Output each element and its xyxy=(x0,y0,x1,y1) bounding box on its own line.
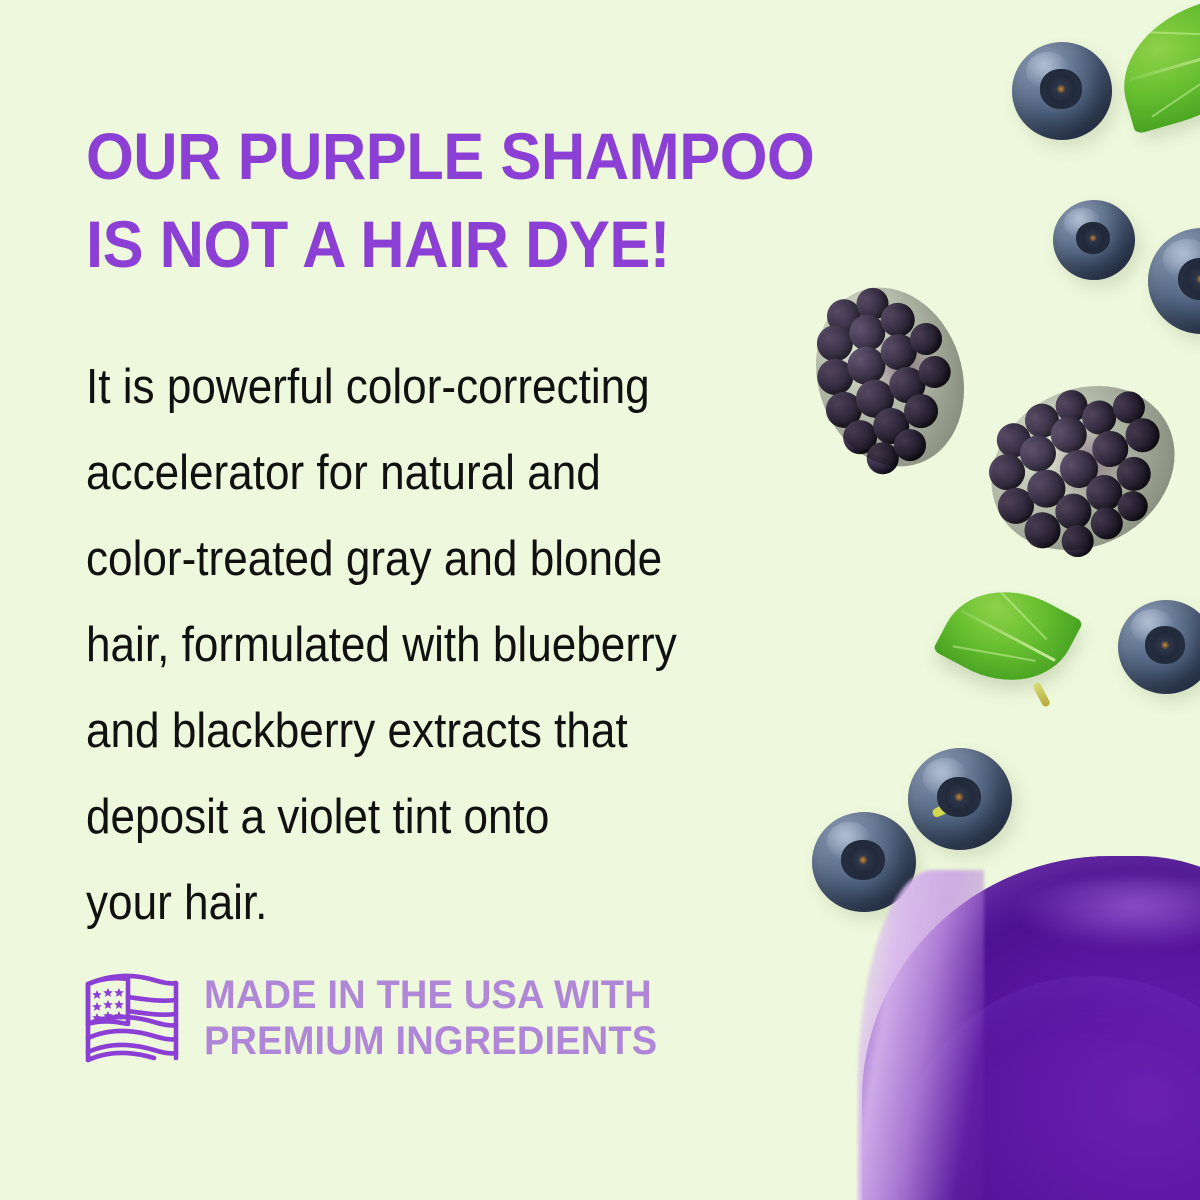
leaf-vein xyxy=(1129,42,1200,81)
mint-leaf-icon xyxy=(932,565,1083,706)
shampoo-highlight-rim xyxy=(858,870,984,1200)
body-paragraph: It is powerful color-correcting accelera… xyxy=(86,344,734,946)
blueberry-bloom xyxy=(923,758,969,797)
blueberry-icon xyxy=(1053,200,1135,280)
blackberry-sheen xyxy=(858,321,946,409)
blueberry-icon xyxy=(908,748,1012,850)
blueberry-stem xyxy=(931,796,966,818)
promo-canvas: OUR PURPLE SHAMPOO IS NOT A HAIR DYE! It… xyxy=(0,0,1200,1200)
blueberry-bloom xyxy=(1131,609,1173,645)
leaf-vein xyxy=(988,579,1048,641)
blueberry-bloom xyxy=(1064,208,1100,238)
leaf-vein xyxy=(1128,30,1200,36)
leaf-vein xyxy=(1151,57,1200,117)
leaf-vein xyxy=(961,610,1056,662)
blueberry-bloom xyxy=(827,822,873,860)
mint-leaf-blade xyxy=(932,565,1083,706)
blackberry-icon xyxy=(963,355,1200,582)
blueberry-bloom xyxy=(1026,52,1070,89)
blackberry-shading xyxy=(963,355,1200,582)
made-in-usa-badge: MADE IN THE USA WITH PREMIUM INGREDIENTS xyxy=(84,968,681,1068)
blackberry-icon xyxy=(793,268,986,486)
blackberry-sheen xyxy=(1036,411,1142,513)
mint-leaf-blade xyxy=(1106,0,1200,135)
leaf-vein xyxy=(953,646,1036,663)
blackberry-shading xyxy=(793,268,986,486)
purple-shampoo-blob xyxy=(862,856,1200,1200)
blueberry-icon xyxy=(1012,42,1112,140)
blueberry-icon xyxy=(1118,600,1200,694)
mint-leaf-icon xyxy=(1106,0,1200,135)
page-title: OUR PURPLE SHAMPOO IS NOT A HAIR DYE! xyxy=(86,112,904,288)
blueberry-icon xyxy=(1148,228,1200,334)
leaf-stalk xyxy=(1032,681,1051,708)
flag-stars xyxy=(92,988,124,1022)
usa-flag-icon xyxy=(84,968,180,1068)
badge-label: MADE IN THE USA WITH PREMIUM INGREDIENTS xyxy=(204,972,657,1064)
blueberry-bloom xyxy=(1163,239,1200,279)
